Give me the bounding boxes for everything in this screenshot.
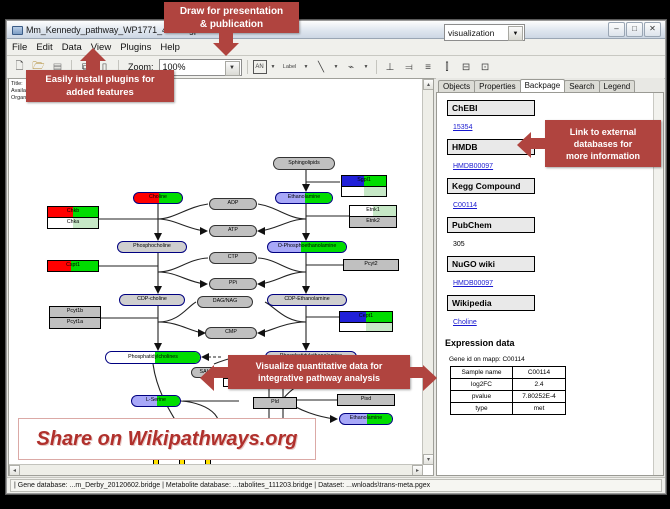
node-label: Sgpl1 <box>357 178 371 183</box>
callout-draw-arrow <box>213 43 239 56</box>
callout-links-line1: Link to external <box>566 126 640 138</box>
visualization-value: visualization <box>448 28 494 38</box>
node-label: Cspt1 <box>66 263 80 268</box>
label-button[interactable]: Label <box>280 58 300 76</box>
tab-objects[interactable]: Objects <box>438 80 475 92</box>
node-atp[interactable]: ATP <box>209 225 257 237</box>
expression-data-heading: Expression data <box>445 338 663 348</box>
exp-value: 7.80252E-4 <box>513 391 566 403</box>
window-controls: – □ ✕ <box>608 22 661 37</box>
scroll-left-icon[interactable]: ◂ <box>9 465 20 476</box>
pathway-canvas[interactable]: Title: Availa Organi <box>8 78 434 476</box>
callout-plugins-line2: added features <box>45 86 154 99</box>
node-label: Chkb <box>67 209 79 214</box>
node-label: ATP <box>228 228 238 233</box>
menu-item-help[interactable]: Help <box>160 42 180 53</box>
node-cdp-ethanolamine[interactable]: CDP-Ethanolamine <box>267 294 347 306</box>
line-dropdown-icon[interactable]: ▼ <box>332 58 341 76</box>
gene-sgpl1b[interactable]: Sgpl1b <box>341 186 387 197</box>
gene-pcyt2[interactable]: Pcyt2 <box>343 259 399 271</box>
node-label: O-Phosphoethanolamine <box>278 244 337 249</box>
menu-item-file[interactable]: File <box>12 42 27 53</box>
distribute-vertical-icon[interactable]: ≡ <box>420 58 437 76</box>
node-label: PPi <box>229 281 237 286</box>
node-label: Pcyt2 <box>364 262 377 267</box>
gene-etnk1[interactable]: Etnk1 <box>349 205 397 216</box>
exp-key: log2FC <box>451 379 513 391</box>
callout-links-line3: more information <box>566 150 640 162</box>
node-label: ADP <box>228 201 239 206</box>
callout-visualize-line1: Visualize quantitative data for <box>256 360 383 372</box>
tab-legend[interactable]: Legend <box>599 80 636 92</box>
callout-share-text: Share on Wikipathways.org <box>37 428 298 451</box>
status-bar: | Gene database: ...m_Derby_20120602.bri… <box>7 477 665 493</box>
node-phosphocholine[interactable]: Phosphocholine <box>117 241 187 253</box>
text-label-icon[interactable]: AN <box>253 60 267 74</box>
same-height-icon[interactable]: ⊡ <box>477 58 494 76</box>
callout-links-line2: databases for <box>566 138 640 150</box>
node-label: CDP-choline <box>137 297 167 302</box>
tab-search[interactable]: Search <box>564 80 599 92</box>
callout-draw-text: Draw for presentation & publication <box>174 3 289 33</box>
node-label: Cept1 <box>359 314 373 319</box>
db-header-wikipedia: Wikipedia <box>447 295 535 311</box>
maximize-button[interactable]: □ <box>626 22 643 37</box>
callout-draw-line1: Draw for presentation <box>180 5 283 18</box>
menu-item-data[interactable]: Data <box>62 42 82 53</box>
node-label: Etnk1 <box>366 208 380 213</box>
callout-draw-arrow-stem <box>219 33 233 43</box>
node-label: DAG/NAG <box>213 299 237 304</box>
exp-value: C00114 <box>513 367 566 379</box>
node-dag-nag[interactable]: DAG/NAG <box>197 296 253 308</box>
align-left-icon[interactable]: ⫤ <box>401 58 418 76</box>
callout-links-arrow <box>517 132 531 158</box>
scroll-down-icon[interactable]: ▾ <box>423 454 434 465</box>
chevron-down-icon-visualization[interactable]: ▼ <box>508 26 523 41</box>
node-label: Choline <box>149 195 167 200</box>
node-label: CDP-Ethanolamine <box>284 297 329 302</box>
db-link-hmdb[interactable]: HMDB00097 <box>453 163 493 170</box>
node-ctp[interactable]: CTP <box>209 252 257 264</box>
node-label: CTP <box>228 255 239 260</box>
callout-plugins: Easily install plugins for added feature… <box>26 70 174 102</box>
callout-links-text: Link to external databases for more info… <box>560 124 646 164</box>
node-label: Sphingolipids <box>288 161 320 166</box>
callout-plugins-arrow <box>80 48 106 61</box>
node-label: Phosphocholine <box>133 244 171 249</box>
node-label: Pcyt1b <box>67 309 83 314</box>
close-button[interactable]: ✕ <box>644 22 661 37</box>
scroll-right-icon[interactable]: ▸ <box>412 465 423 476</box>
node-ppi[interactable]: PPi <box>209 278 257 290</box>
node-ethanolamine[interactable]: Ethanolamine <box>275 192 333 204</box>
node-label: L-Serine <box>146 398 166 403</box>
node-sphingolipids[interactable]: Sphingolipids <box>273 157 335 170</box>
callout-visualize-stem-left <box>214 367 229 378</box>
callout-plugins-line1: Easily install plugins for <box>45 73 154 86</box>
db-header-nugo-wiki: NuGO wiki <box>447 256 535 272</box>
gene-pld[interactable]: Pld <box>253 397 297 409</box>
node-label: Pcyt1a <box>67 320 83 325</box>
node-label: Pisd <box>361 397 371 402</box>
node-label: Phosphatidylcholines <box>128 355 178 360</box>
db-value-pubchem: 305 <box>453 241 465 248</box>
db-link-chebi[interactable]: 15354 <box>453 124 472 131</box>
visualization-combo[interactable]: visualization ▼ <box>444 24 525 41</box>
label-dropdown-icon[interactable]: ▼ <box>269 58 278 76</box>
exp-key: type <box>451 403 513 415</box>
node-ethanolamine-bottom[interactable]: Ethanolamine <box>339 413 393 425</box>
shape-dropdown-icon[interactable]: ▼ <box>362 58 371 76</box>
callout-draw-line2: & publication <box>180 18 283 31</box>
gene-chkb[interactable]: Chkb <box>47 206 99 217</box>
gene-pisd[interactable]: Pisd <box>337 394 395 406</box>
side-tabs: Objects Properties Backpage Search Legen… <box>436 78 664 92</box>
gene-pcyt1b[interactable]: Pcyt1b <box>49 306 101 317</box>
callout-links: Link to external databases for more info… <box>545 120 661 167</box>
callout-plugins-arrow-stem <box>86 60 100 70</box>
gene-cept1[interactable]: Cept1 <box>339 311 393 322</box>
node-label: CMP <box>225 330 237 335</box>
callout-visualize-text: Visualize quantitative data for integrat… <box>250 358 389 386</box>
toolbar-separator-4 <box>376 60 377 74</box>
table-row: log2FC 2.4 <box>451 379 566 391</box>
node-label: Ethanolamine <box>350 416 382 421</box>
node-label: Chka <box>67 220 79 225</box>
toolbar-separator-3 <box>247 60 248 74</box>
node-cmp[interactable]: CMP <box>205 327 257 339</box>
callout-visualize: Visualize quantitative data for integrat… <box>228 355 410 389</box>
gene-sgpl1[interactable]: Sgpl1 <box>341 175 387 186</box>
align-bottom-icon[interactable]: ⊥ <box>382 58 399 76</box>
callout-draw: Draw for presentation & publication <box>164 2 299 33</box>
exp-key: Sample name <box>451 367 513 379</box>
table-row: type met <box>451 403 566 415</box>
callout-share: Share on Wikipathways.org <box>18 418 316 460</box>
chevron-down-icon[interactable]: ▼ <box>225 61 240 76</box>
menu-item-plugins[interactable]: Plugins <box>120 42 151 53</box>
node-cdp-choline[interactable]: CDP-choline <box>119 294 185 306</box>
status-text: | Gene database: ...m_Derby_20120602.bri… <box>10 479 662 492</box>
distribute-horizontal-icon[interactable]: ⫿ <box>439 58 456 76</box>
node-label: Etnk2 <box>366 219 380 224</box>
tab-backpage[interactable]: Backpage <box>520 79 566 92</box>
node-phosphatidylcholines[interactable]: Phosphatidylcholines <box>105 351 201 364</box>
title-bar: Mm_Kennedy_pathway_WP1771_45176.gpml – □… <box>7 21 665 39</box>
db-link-nugo-wiki[interactable]: HMDB00097 <box>453 280 493 287</box>
node-label: Pld <box>271 400 279 405</box>
canvas-horizontal-scrollbar[interactable]: ◂ ▸ <box>9 464 423 475</box>
exp-value: met <box>513 403 566 415</box>
shape-icon[interactable]: ⌁ <box>343 58 360 76</box>
canvas-vertical-scrollbar[interactable]: ▴ ▾ <box>422 79 433 465</box>
callout-visualize-arrow-left <box>200 365 214 391</box>
exp-key: pvalue <box>451 391 513 403</box>
db-link-kegg-compound[interactable]: C00114 <box>453 202 477 209</box>
node-adp[interactable]: ADP <box>209 198 257 210</box>
node-choline[interactable]: Choline <box>133 192 183 204</box>
gene-cept1b[interactable] <box>339 322 393 332</box>
expression-table: Sample name C00114 log2FC 2.4 pvalue 7.8… <box>450 366 566 415</box>
scroll-up-icon[interactable]: ▴ <box>423 79 434 90</box>
callout-visualize-line2: integrative pathway analysis <box>256 372 383 384</box>
line-icon[interactable]: ╲ <box>313 58 330 76</box>
callout-plugins-text: Easily install plugins for added feature… <box>39 71 160 101</box>
node-label: Ethanolamine <box>288 195 320 200</box>
callout-visualize-arrow-right <box>423 365 437 391</box>
db-link-wikipedia[interactable]: Choline <box>453 319 477 326</box>
gene-etnk2[interactable]: Etnk2 <box>349 216 397 228</box>
gene-id-line: Gene id on mapp: C00114 <box>449 356 663 363</box>
tab-properties[interactable]: Properties <box>474 80 520 92</box>
callout-visualize-stem-right <box>409 367 424 378</box>
table-row: Sample name C00114 <box>451 367 566 379</box>
node-o-phosphoethanolamine[interactable]: O-Phosphoethanolamine <box>267 241 347 253</box>
db-header-kegg-compound: Kegg Compound <box>447 178 535 194</box>
app-icon <box>11 24 22 35</box>
db-header-pubchem: PubChem <box>447 217 535 233</box>
table-row: pvalue 7.80252E-4 <box>451 391 566 403</box>
node-l-serine-left[interactable]: L-Serine <box>131 395 181 407</box>
minimize-button[interactable]: – <box>608 22 625 37</box>
gene-cspt1[interactable]: Cspt1 <box>47 260 99 272</box>
gene-chka[interactable]: Chka <box>47 217 99 229</box>
label-type-dropdown-icon[interactable]: ▼ <box>302 58 311 76</box>
callout-links-arrow-stem <box>531 138 546 149</box>
menu-item-edit[interactable]: Edit <box>36 42 52 53</box>
db-header-chebi: ChEBI <box>447 100 535 116</box>
same-width-icon[interactable]: ⊟ <box>458 58 475 76</box>
gene-pcyt1a[interactable]: Pcyt1a <box>49 317 101 329</box>
exp-value: 2.4 <box>513 379 566 391</box>
